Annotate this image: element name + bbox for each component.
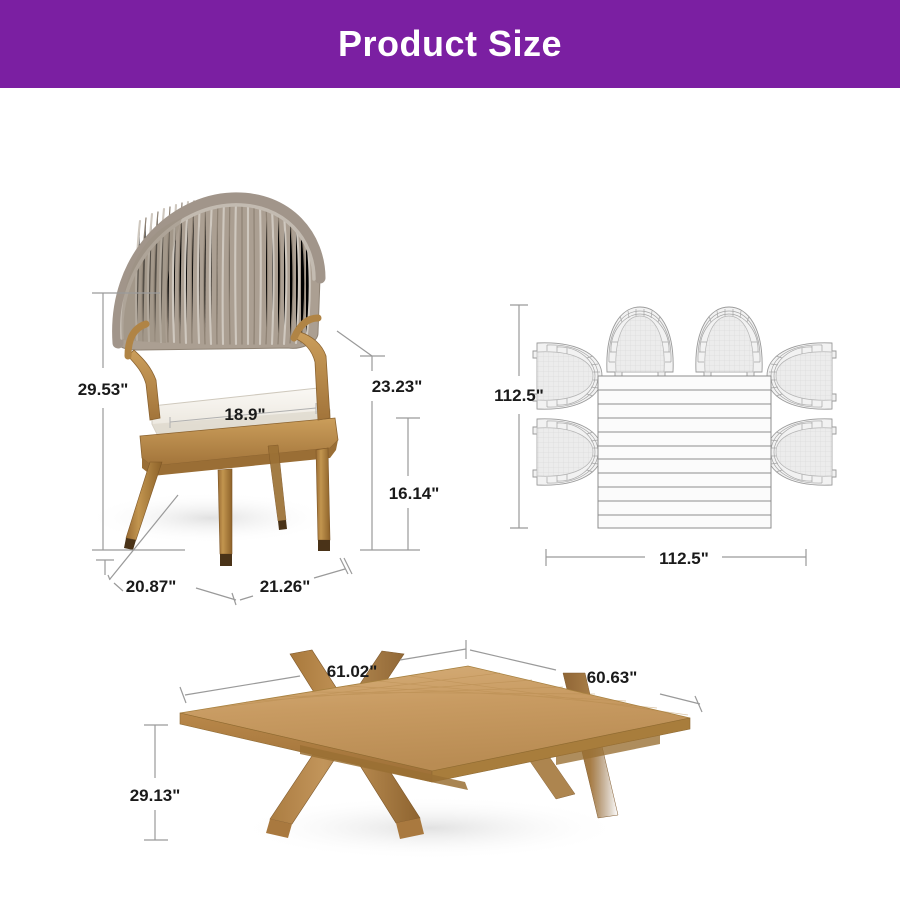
chair-leg-cap-front-right bbox=[318, 540, 330, 551]
chair-width-label: 21.26" bbox=[260, 577, 311, 596]
chair-leg-front-center bbox=[218, 469, 232, 554]
chair-leg-cap-rear bbox=[278, 520, 287, 530]
plan-table-top bbox=[598, 376, 771, 528]
set-width-dimension: 112.5" bbox=[546, 549, 806, 568]
chair-depth-label: 20.87" bbox=[126, 577, 177, 596]
page-title: Product Size bbox=[338, 23, 562, 65]
set-top-view-diagram: 112.5" 112.5" bbox=[494, 305, 836, 568]
chair-width-dimension: 21.26" bbox=[240, 558, 352, 600]
diagram-area: 29.53" 23.23" 16.14" 18.9" bbox=[0, 88, 900, 900]
chair-arm-height-label: 23.23" bbox=[372, 377, 423, 396]
table-width-label: 61.02" bbox=[327, 662, 378, 681]
chair-seat-height-label: 16.14" bbox=[389, 484, 440, 503]
table-height-label: 29.13" bbox=[130, 786, 181, 805]
chair-leg-front-right bbox=[316, 448, 330, 540]
chair-leg-cap-front-center bbox=[220, 554, 232, 566]
table-depth-label: 60.63" bbox=[587, 668, 638, 687]
set-depth-dimension: 112.5" bbox=[494, 305, 544, 528]
plan-chair-left-bottom bbox=[533, 419, 602, 485]
plan-chair-right-bottom bbox=[767, 419, 836, 485]
set-width-label: 112.5" bbox=[659, 549, 709, 568]
chair-armrest-left bbox=[128, 350, 160, 420]
table-perspective-diagram: 61.02" 60.63" 29.13" bbox=[130, 640, 702, 860]
plan-chair-top-right bbox=[696, 307, 762, 376]
plan-chair-right-top bbox=[767, 343, 836, 409]
chair-perspective-diagram: 29.53" 23.23" 16.14" 18.9" bbox=[78, 198, 440, 605]
product-size-diagram: 29.53" 23.23" 16.14" 18.9" bbox=[0, 88, 900, 900]
plan-chair-top-left bbox=[607, 307, 673, 376]
chair-height-label: 29.53" bbox=[78, 380, 129, 399]
table-height-dimension: 29.13" bbox=[130, 725, 181, 840]
header-banner: Product Size bbox=[0, 0, 900, 88]
chair-floor-shadow bbox=[85, 492, 335, 544]
chair-seat-width-label: 18.9" bbox=[224, 405, 265, 424]
set-depth-label: 112.5" bbox=[494, 386, 544, 405]
chair-arm-height-dimension: 23.23" bbox=[337, 331, 422, 550]
